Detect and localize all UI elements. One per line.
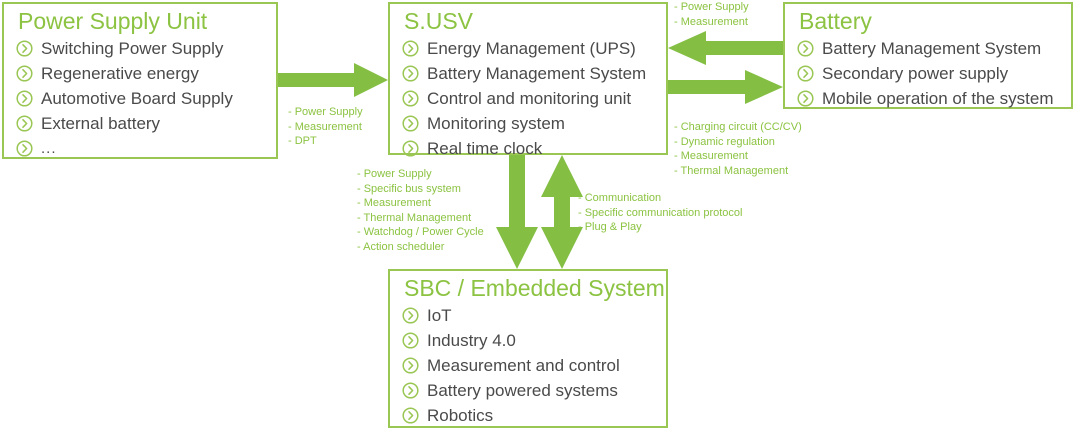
list-item: External battery (16, 111, 276, 136)
annotation-line: - Measurement (674, 15, 749, 30)
chevron-circle-right-icon (402, 407, 419, 424)
list-item: Switching Power Supply (16, 36, 276, 61)
list-item-label: Automotive Board Supply (41, 89, 233, 109)
list-item: ... (16, 136, 276, 161)
annotation-susv-sbc-bidirectional: - Communication - Specific communication… (578, 191, 742, 235)
chevron-circle-right-icon (402, 307, 419, 324)
list-item: Monitoring system (402, 111, 666, 136)
annotation-line: - Measurement (288, 120, 363, 135)
list-item: Regenerative energy (16, 61, 276, 86)
list-item-label: Robotics (427, 406, 493, 426)
chevron-circle-right-icon (16, 90, 33, 107)
chevron-circle-right-icon (797, 90, 814, 107)
chevron-circle-right-icon (402, 65, 419, 82)
chevron-circle-right-icon (402, 357, 419, 374)
annotation-susv-to-battery: - Charging circuit (CC/CV) - Dynamic reg… (674, 120, 802, 178)
chevron-circle-right-icon (402, 40, 419, 57)
annotation-line: - Measurement (674, 149, 802, 164)
annotation-line: - Watchdog / Power Cycle (357, 225, 484, 240)
box-sbc-embedded-system: SBC / Embedded System IoT Industry 4.0 M… (388, 269, 668, 428)
box-battery: Battery Battery Management System Second… (783, 2, 1073, 109)
arrow-susv-to-sbc (495, 155, 539, 269)
chevron-circle-right-icon (402, 382, 419, 399)
list-item-label: Switching Power Supply (41, 39, 223, 59)
list-item-label: Control and monitoring unit (427, 89, 631, 109)
list-item-label: Monitoring system (427, 114, 565, 134)
list-item: Energy Management (UPS) (402, 36, 666, 61)
bullet-list-sbc: IoT Industry 4.0 Measurement and control… (390, 303, 666, 428)
list-item: Mobile operation of the system (797, 86, 1071, 111)
list-item-label: Regenerative energy (41, 64, 199, 84)
annotation-line: - Communication (578, 191, 742, 206)
list-item-label: Battery Management System (822, 39, 1041, 59)
list-item: Control and monitoring unit (402, 86, 666, 111)
list-item-label: Measurement and control (427, 356, 620, 376)
list-item-label: IoT (427, 306, 452, 326)
annotation-line: - Power Supply (288, 105, 363, 120)
arrow-battery-to-susv (668, 31, 783, 65)
annotation-line: - Thermal Management (357, 211, 484, 226)
list-item: Robotics (402, 403, 666, 428)
bullet-list-susv: Energy Management (UPS) Battery Manageme… (390, 36, 666, 161)
bullet-list-power-supply-unit: Switching Power Supply Regenerative ener… (4, 36, 276, 161)
chevron-circle-right-icon (16, 40, 33, 57)
chevron-circle-right-icon (797, 40, 814, 57)
annotation-line: - Specific bus system (357, 182, 484, 197)
box-title-susv: S.USV (390, 4, 666, 36)
list-item-label: ... (41, 139, 57, 159)
chevron-circle-right-icon (402, 332, 419, 349)
list-item: Automotive Board Supply (16, 86, 276, 111)
box-title-sbc-embedded-system: SBC / Embedded System (390, 271, 666, 303)
bullet-list-battery: Battery Management System Secondary powe… (785, 36, 1071, 111)
annotation-susv-to-sbc: - Power Supply - Specific bus system - M… (357, 167, 484, 254)
list-item-label: Battery Management System (427, 64, 646, 84)
list-item-label: Energy Management (UPS) (427, 39, 636, 59)
list-item: Battery Management System (797, 36, 1071, 61)
annotation-line: - Dynamic regulation (674, 135, 802, 150)
annotation-line: - Power Supply (357, 167, 484, 182)
box-susv: S.USV Energy Management (UPS) Battery Ma… (388, 2, 668, 155)
annotation-line: - Specific communication protocol (578, 206, 742, 221)
arrow-susv-to-battery (668, 70, 783, 104)
diagram-canvas: Power Supply Unit Switching Power Supply… (0, 0, 1080, 430)
list-item-label: Secondary power supply (822, 64, 1008, 84)
list-item: Industry 4.0 (402, 328, 666, 353)
list-item-label: Mobile operation of the system (822, 89, 1054, 109)
list-item: Battery powered systems (402, 378, 666, 403)
chevron-circle-right-icon (402, 140, 419, 157)
box-power-supply-unit: Power Supply Unit Switching Power Supply… (2, 2, 278, 159)
annotation-line: - DPT (288, 134, 363, 149)
list-item: Secondary power supply (797, 61, 1071, 86)
chevron-circle-right-icon (797, 65, 814, 82)
box-title-power-supply-unit: Power Supply Unit (4, 4, 276, 36)
arrow-psu-to-susv (278, 62, 388, 98)
chevron-circle-right-icon (402, 115, 419, 132)
box-title-battery: Battery (785, 4, 1071, 36)
annotation-line: - Thermal Management (674, 164, 802, 179)
chevron-circle-right-icon (16, 115, 33, 132)
list-item-label: External battery (41, 114, 160, 134)
annotation-line: - Measurement (357, 196, 484, 211)
annotation-line: - Charging circuit (CC/CV) (674, 120, 802, 135)
list-item-label: Industry 4.0 (427, 331, 516, 351)
list-item: Battery Management System (402, 61, 666, 86)
list-item: IoT (402, 303, 666, 328)
chevron-circle-right-icon (16, 140, 33, 157)
annotation-line: - Action scheduler (357, 240, 484, 255)
annotation-line: - Power Supply (674, 0, 749, 15)
annotation-battery-to-susv: - Power Supply - Measurement (674, 0, 749, 29)
chevron-circle-right-icon (16, 65, 33, 82)
annotation-psu-to-susv: - Power Supply - Measurement - DPT (288, 105, 363, 149)
annotation-line: - Plug & Play (578, 220, 742, 235)
list-item: Measurement and control (402, 353, 666, 378)
chevron-circle-right-icon (402, 90, 419, 107)
list-item-label: Battery powered systems (427, 381, 618, 401)
